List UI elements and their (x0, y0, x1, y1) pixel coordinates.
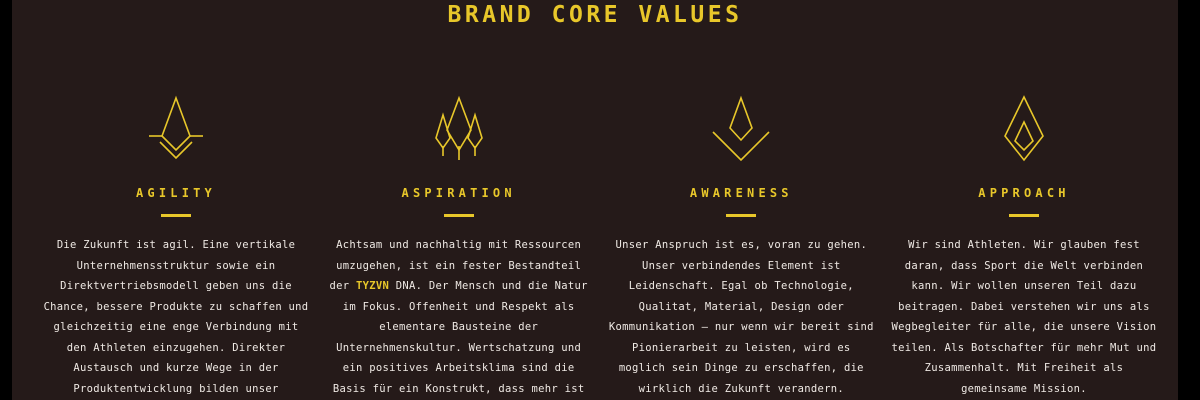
value-title: AWARENESS (690, 186, 793, 200)
left-edge-strip (0, 0, 12, 400)
approach-diamond-icon (991, 92, 1057, 164)
value-card-aspiration: ASPIRATION Achtsam und nachhaltig mit Re… (323, 92, 595, 400)
content-canvas: BRAND CORE VALUES AGILITY Die Zukunft is… (12, 0, 1178, 400)
value-title: APPROACH (978, 186, 1069, 200)
value-card-approach: APPROACH Wir sind Athleten. Wir glauben … (888, 92, 1160, 399)
page-title: BRAND CORE VALUES (12, 2, 1178, 28)
value-title: ASPIRATION (402, 186, 516, 200)
right-edge-strip (1178, 0, 1200, 400)
aspiration-trident-icon (426, 92, 492, 164)
value-body-text: Unser Anspruch ist es, voran zu gehen. U… (609, 239, 874, 395)
value-body-text: Die Zukunft ist agil. Eine vertikale Unt… (44, 239, 309, 400)
title-divider (444, 214, 474, 217)
value-body-highlight: TYZVN (356, 280, 389, 292)
value-body: Wir sind Athleten. Wir glauben fest dara… (889, 235, 1159, 399)
value-body: Achtsam und nachhaltig mit Ressourcen um… (324, 235, 594, 400)
title-divider (726, 214, 756, 217)
agility-arrow-icon (143, 92, 209, 164)
title-divider (161, 214, 191, 217)
value-body: Die Zukunft ist agil. Eine vertikale Unt… (41, 235, 311, 400)
awareness-chevron-icon (708, 92, 774, 164)
values-grid: AGILITY Die Zukunft ist agil. Eine verti… (40, 92, 1160, 400)
value-title: AGILITY (136, 186, 216, 200)
value-body-text-after: DNA. Der Mensch und die Natur im Fokus. … (326, 280, 591, 400)
brand-core-values-page: BRAND CORE VALUES AGILITY Die Zukunft is… (0, 0, 1200, 400)
value-card-awareness: AWARENESS Unser Anspruch ist es, voran z… (605, 92, 877, 399)
value-body: Unser Anspruch ist es, voran zu gehen. U… (606, 235, 876, 399)
title-divider (1009, 214, 1039, 217)
value-body-text: Wir sind Athleten. Wir glauben fest dara… (892, 239, 1157, 395)
value-card-agility: AGILITY Die Zukunft ist agil. Eine verti… (40, 92, 312, 400)
